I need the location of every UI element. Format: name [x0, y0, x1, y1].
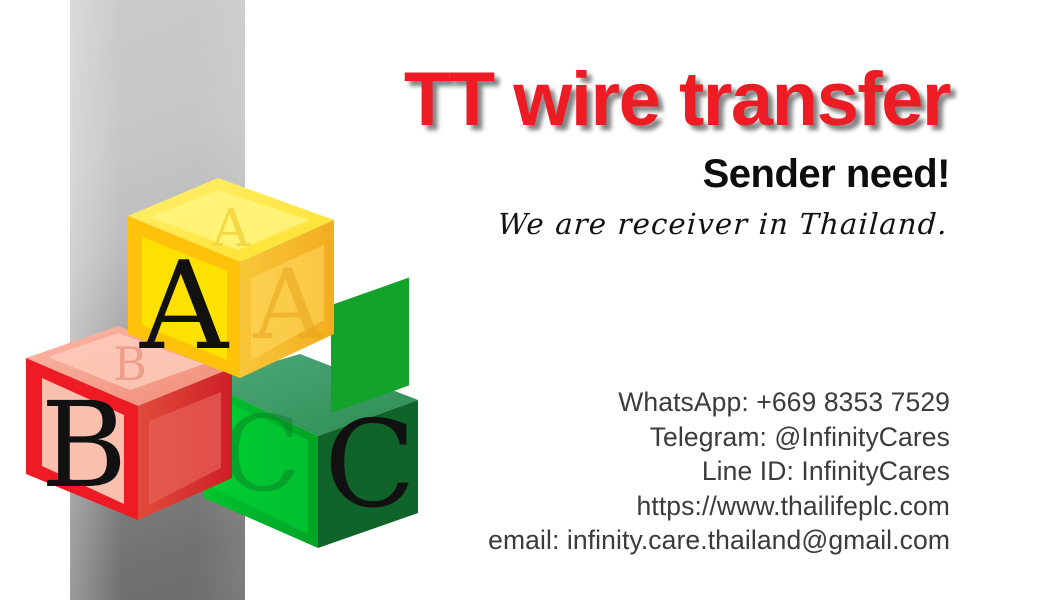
page-title: TT wire transfer [255, 57, 950, 143]
contact-block: WhatsApp: +669 8353 7529 Telegram: @Infi… [255, 385, 950, 558]
tagline: We are receiver in Thailand. [252, 203, 949, 245]
contact-line-email[interactable]: email: infinity.care.thailand@gmail.com [255, 523, 950, 558]
promo-card: C C B B [0, 0, 1063, 600]
svg-text:A: A [139, 235, 230, 377]
contact-line-lineid: Line ID: InfinityCares [255, 454, 950, 489]
text-column: TT wire transfer Sender need! We are rec… [255, 0, 950, 600]
svg-text:B: B [41, 376, 128, 514]
subtitle: Sender need! [255, 150, 950, 198]
contact-line-whatsapp: WhatsApp: +669 8353 7529 [255, 385, 950, 420]
contact-line-website[interactable]: https://www.thailifeplc.com [255, 489, 950, 524]
contact-line-telegram: Telegram: @InfinityCares [255, 420, 950, 455]
